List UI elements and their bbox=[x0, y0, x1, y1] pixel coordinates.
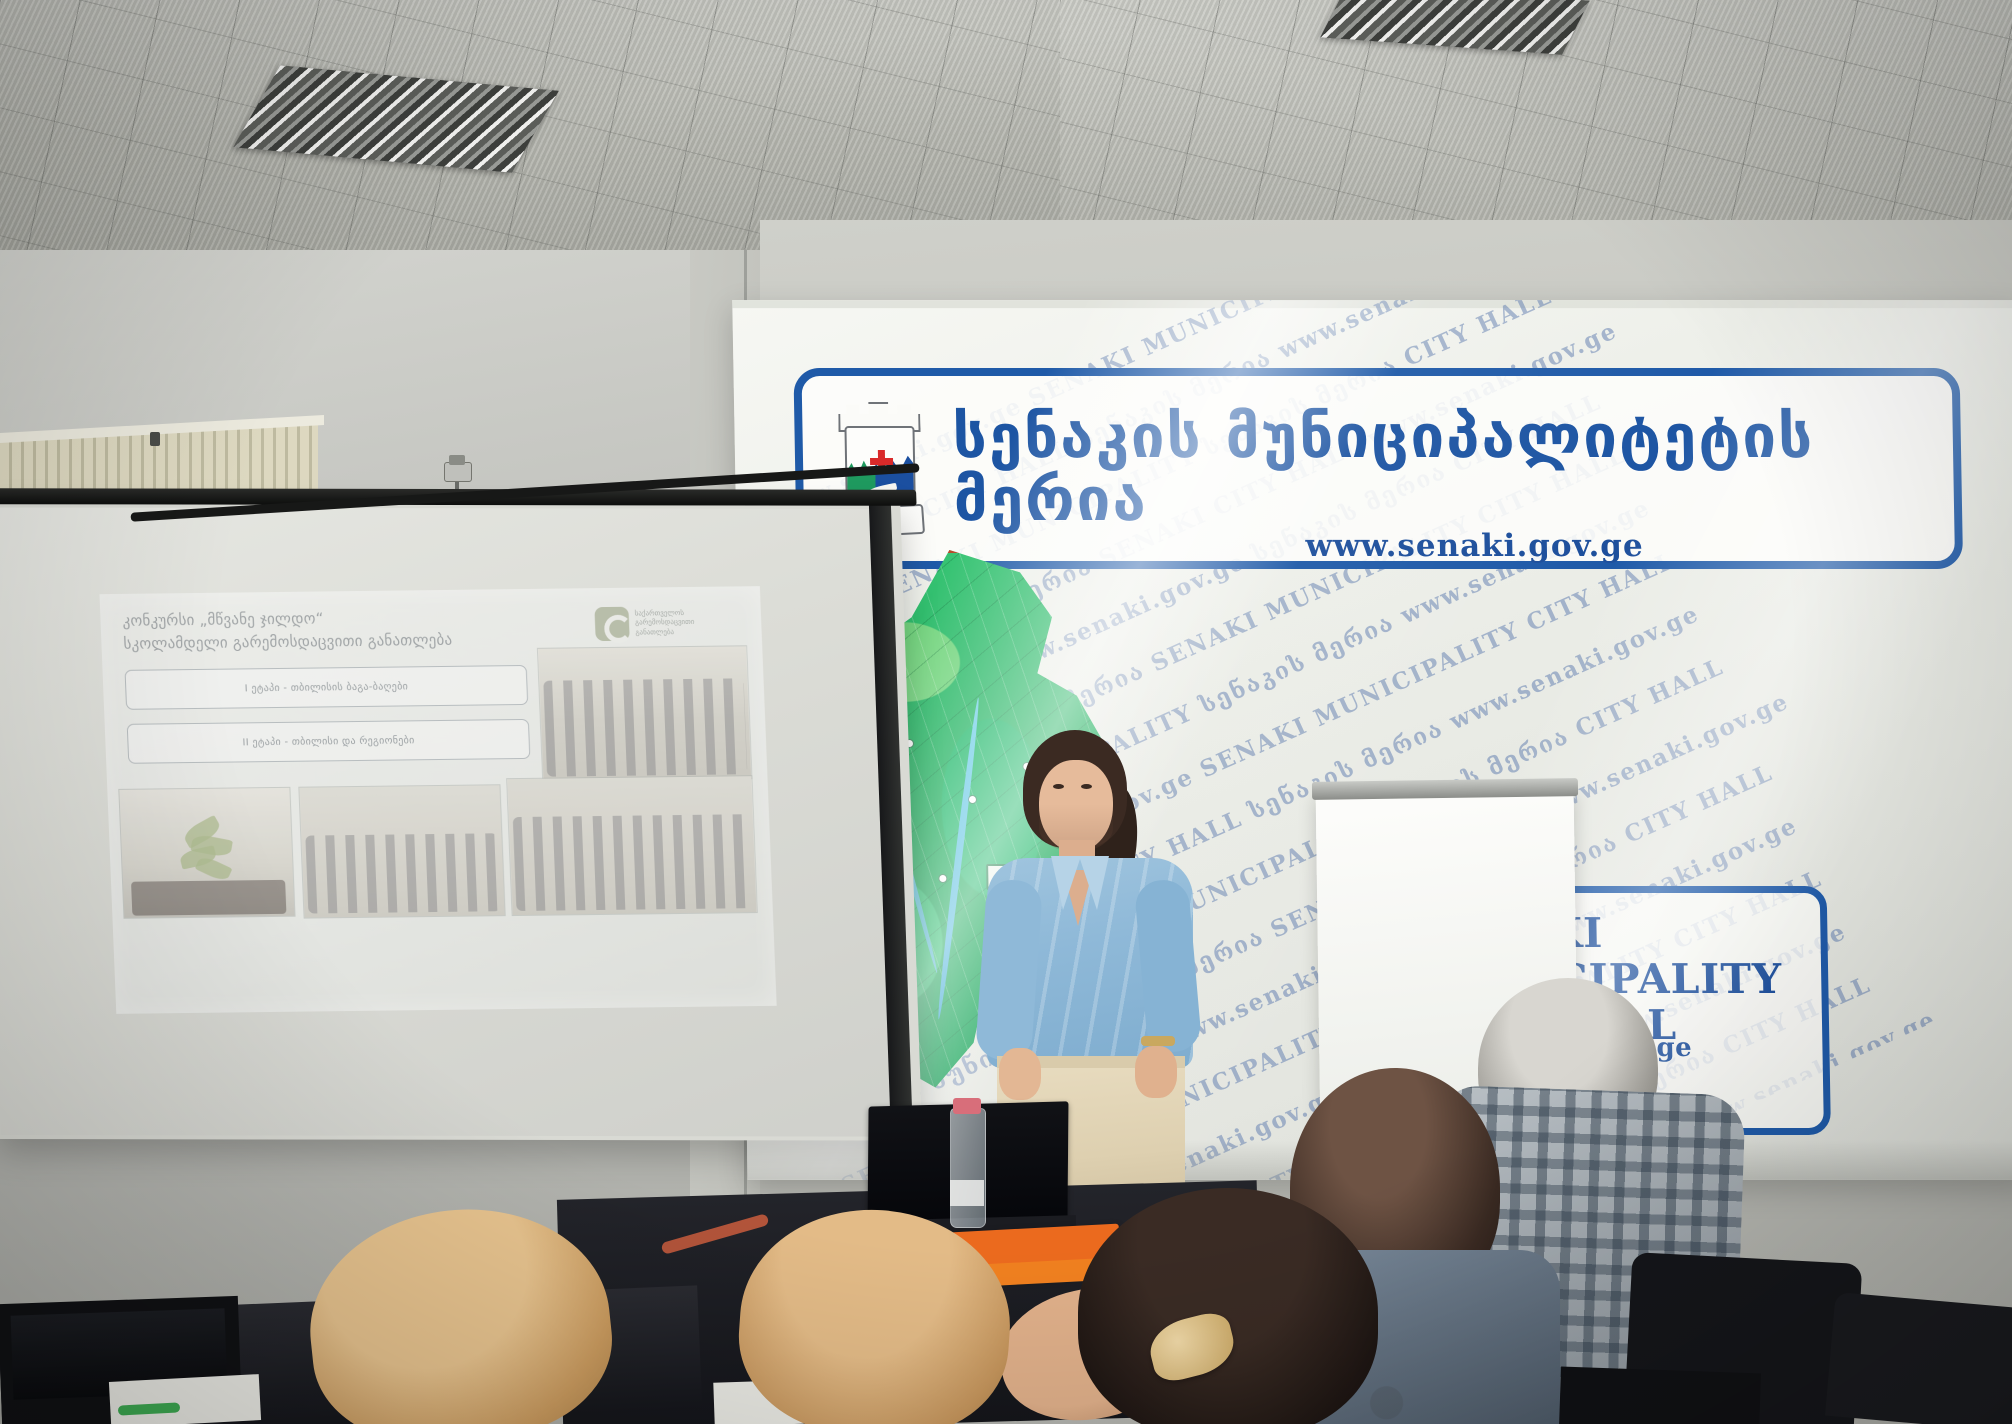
audience-head-dark-haired-woman bbox=[1078, 1188, 1378, 1424]
logo-text-line-1: საქართველოს bbox=[635, 609, 685, 618]
slide-photo-audience bbox=[299, 785, 504, 917]
water-bottle bbox=[950, 1108, 986, 1228]
logo-text-line-3: განათლება bbox=[635, 628, 674, 636]
chair bbox=[1825, 1292, 2012, 1424]
slide-photo-plant-office bbox=[119, 788, 294, 918]
papers-on-table bbox=[109, 1374, 261, 1424]
slide-title-line-2: სკოლამდელი გარემოსდაცვითი განათლება bbox=[123, 627, 564, 655]
projector-lens-icon bbox=[449, 455, 465, 465]
projected-slide: კონკურსი „მწვანე ჯილდო“ სკოლამდელი გარემ… bbox=[99, 586, 776, 1014]
leaf-book-logo-icon bbox=[594, 607, 629, 641]
blinds-knob bbox=[150, 432, 160, 446]
banner-title-box: სენაკი სენაკის მუნიციპალიტეტის მერია www… bbox=[793, 368, 1963, 569]
banner-title: სენაკის მუნიციპალიტეტის მერია bbox=[952, 406, 1934, 532]
logo-text-line-2: გარემოსდაცვითი bbox=[635, 618, 695, 627]
water-bottle-cap bbox=[953, 1098, 981, 1114]
conference-room-photo: სენაკის მერია www.senaki.gov.ge SENAKI M… bbox=[0, 0, 2012, 1424]
presenter-wristwatch bbox=[1141, 1036, 1175, 1046]
slide-logo-text: საქართველოს გარემოსდაცვითი განათლება bbox=[635, 609, 695, 638]
slide-photo-group-award bbox=[538, 646, 751, 780]
chair bbox=[1559, 1367, 1761, 1424]
projector-icon bbox=[444, 462, 472, 482]
slide-photo-group-certificates bbox=[507, 776, 757, 915]
flipchart-clamp bbox=[1312, 778, 1578, 800]
slide-logo: საქართველოს გარემოსდაცვითი განათლება bbox=[594, 600, 746, 646]
water-bottle-label bbox=[950, 1180, 984, 1206]
slide-stage-box-1: I ეტაპი - თბილისის ბაგა-ბაღები bbox=[125, 665, 529, 710]
banner-url: www.senaki.gov.ge bbox=[1094, 528, 1855, 564]
slide-stage-box-2: II ეტაპი - თბილისი და რეგიონები bbox=[127, 719, 531, 764]
slide-title: კონკურსი „მწვანე ჯილდო“ სკოლამდელი გარემ… bbox=[122, 605, 564, 655]
